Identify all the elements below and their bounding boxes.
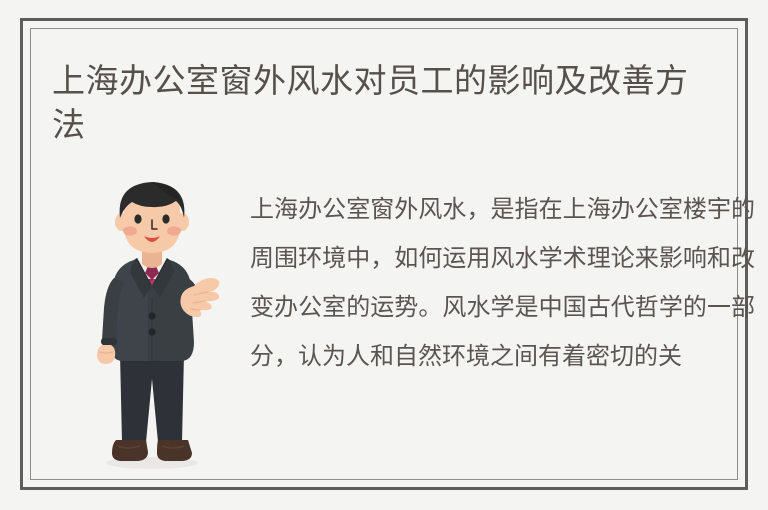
article-paragraph: 上海办公室窗外风水，是指在上海办公室楼宇的周围环境中，如何运用风水学术理论来影响… — [250, 185, 755, 381]
page-title: 上海办公室窗外风水对员工的影响及改善方法 — [52, 59, 712, 147]
businessman-svg — [82, 174, 222, 474]
article-inner-frame: 上海办公室窗外风水对员工的影响及改善方法 — [30, 28, 738, 480]
businessman-presenting-illustration — [82, 174, 222, 474]
article-body: 上海办公室窗外风水，是指在上海办公室楼宇的周围环境中，如何运用风水学术理论来影响… — [52, 169, 721, 469]
article-card: 上海办公室窗外风水对员工的影响及改善方法 — [20, 18, 748, 490]
